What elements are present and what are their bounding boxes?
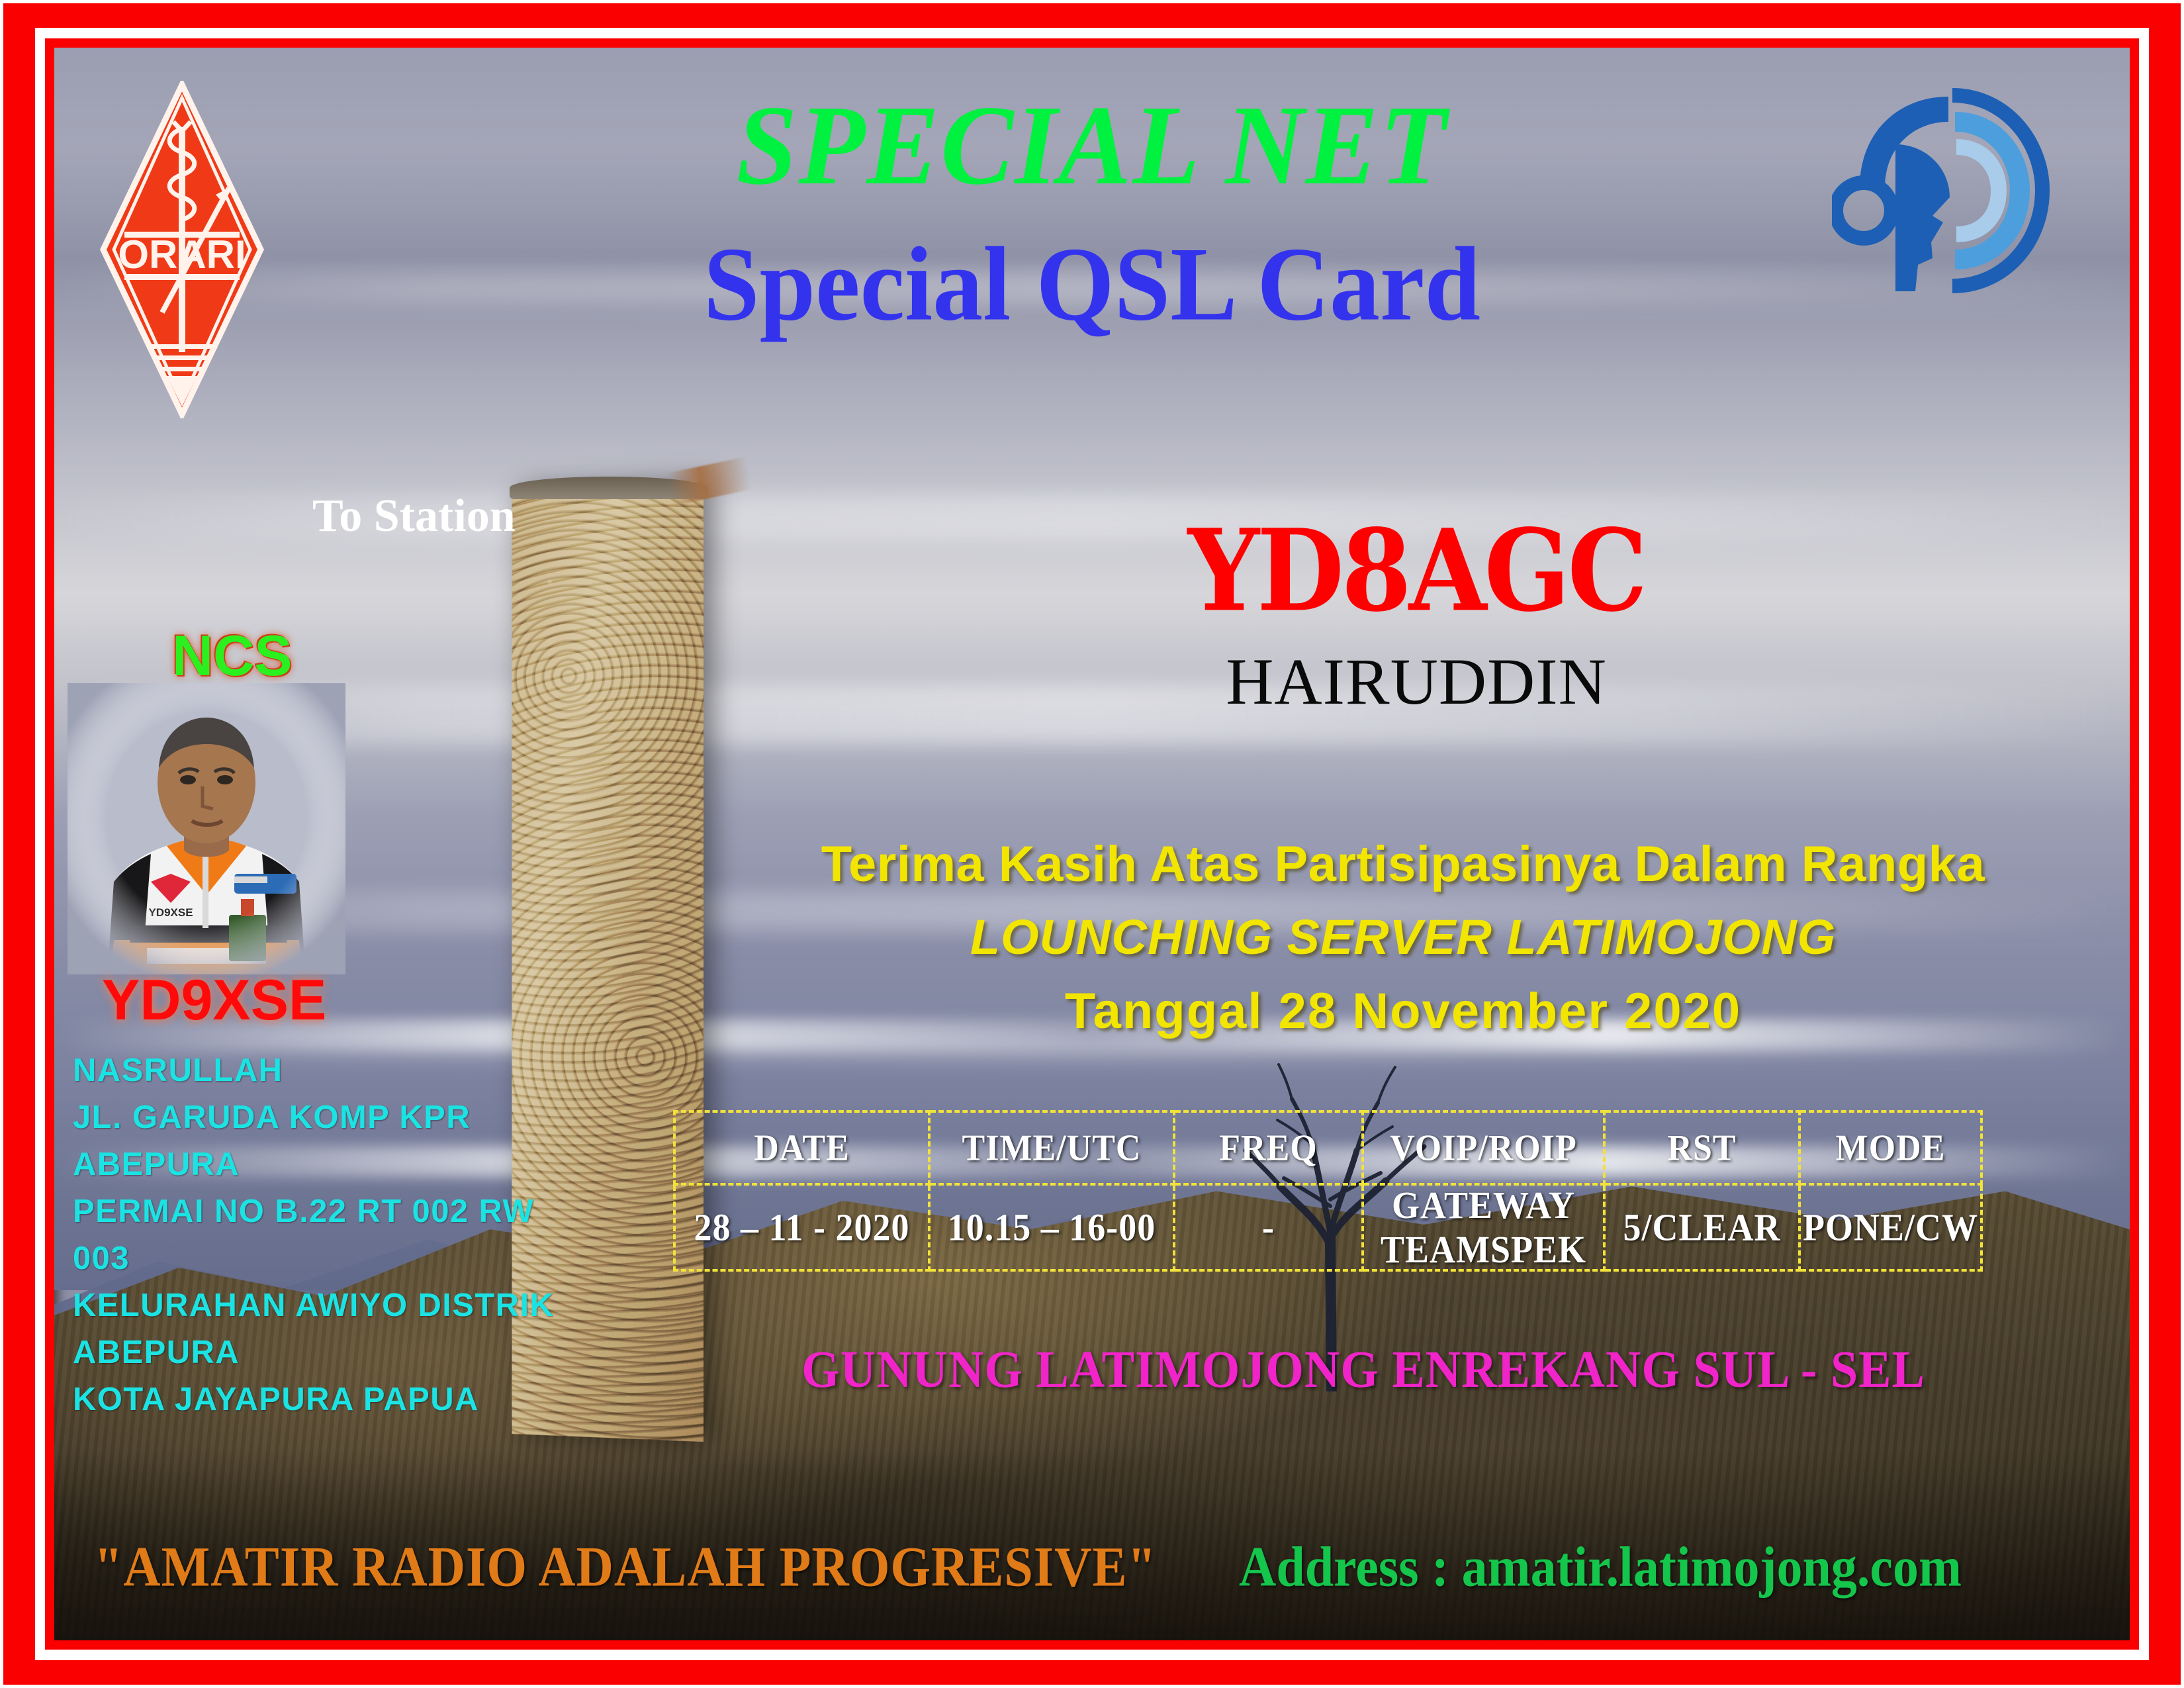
cell-freq: - — [1174, 1181, 1363, 1274]
address-line: JL. GARUDA KOMP KPR — [73, 1094, 576, 1141]
table-row: 28 – 11 - 2020 10.15 – 16-00 - GATEWAY T… — [674, 1184, 1981, 1270]
location-text: GUNUNG LATIMOJONG ENREKANG SUL - SEL — [637, 1340, 2090, 1401]
cell-voip: GATEWAY TEAMSPEK — [1363, 1181, 1604, 1274]
address-line: ABEPURA — [73, 1141, 576, 1188]
column-header-mode: MODE — [1799, 1109, 1981, 1188]
thanks-line-2: LOUNCHING SERVER LATIMOJONG — [716, 909, 2090, 965]
column-header-time: TIME/UTC — [929, 1109, 1174, 1188]
cell-mode: PONE/CW — [1799, 1181, 1981, 1274]
table-header-row: DATE TIME/UTC FREQ VOIP/ROIP RST MODE — [674, 1111, 1981, 1184]
page-subtitle: Special QSL Card — [54, 224, 2130, 345]
page-title: SPECIAL NET — [96, 81, 2089, 211]
ncs-operator-avatar: YD9XSE — [68, 683, 345, 974]
address-line: NASRULLAH — [73, 1047, 576, 1094]
footer-slogan: "AMATIR RADIO ADALAH PROGRESIVE" — [94, 1534, 1157, 1600]
thanks-block: Terima Kasih Atas Partisipasinya Dalam R… — [716, 835, 2090, 1040]
thanks-line-1: Terima Kasih Atas Partisipasinya Dalam R… — [716, 835, 2090, 893]
qso-table: DATE TIME/UTC FREQ VOIP/ROIP RST MODE 28… — [673, 1110, 1983, 1272]
column-header-date: DATE — [674, 1109, 929, 1188]
to-station-label: To Station — [312, 490, 516, 543]
address-line: KOTA JAYAPURA PAPUA — [73, 1376, 576, 1423]
cell-date: 28 – 11 - 2020 — [674, 1181, 929, 1274]
station-callsign: YD8AGC — [835, 504, 1997, 636]
ncs-address-block: NASRULLAH JL. GARUDA KOMP KPR ABEPURA PE… — [73, 1047, 576, 1423]
column-header-rst: RST — [1604, 1109, 1799, 1188]
ncs-callsign: YD9XSE — [102, 968, 326, 1033]
address-line: KELURAHAN AWIYO DISTRIK — [73, 1282, 576, 1329]
column-header-voip: VOIP/ROIP — [1363, 1109, 1604, 1188]
footer-address: Address : amatir.latimojong.com — [1239, 1534, 1962, 1600]
cell-rst: 5/CLEAR — [1604, 1181, 1799, 1274]
card-content-layer: ORARI SPECIAL NET Special QSL Card To St… — [54, 48, 2130, 1640]
address-line: PERMAI NO B.22 RT 002 RW 003 — [73, 1188, 576, 1282]
address-line: ABEPURA — [73, 1329, 576, 1376]
ncs-label: NCS — [172, 624, 293, 689]
thanks-line-3: Tanggal 28 November 2020 — [716, 982, 2090, 1040]
operator-name: HAIRUDDIN — [835, 643, 1997, 720]
qsl-card: ORARI SPECIAL NET Special QSL Card To St… — [0, 0, 2184, 1688]
column-header-freq: FREQ — [1174, 1109, 1363, 1188]
cell-time: 10.15 – 16-00 — [929, 1181, 1174, 1274]
